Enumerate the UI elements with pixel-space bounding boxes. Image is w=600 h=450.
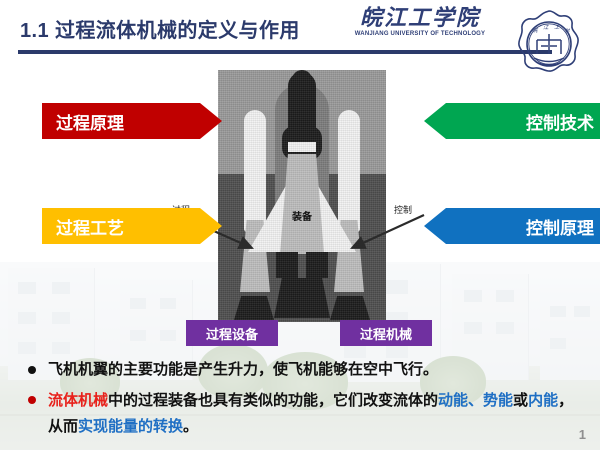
launch-pad-block-left [276,252,298,278]
tag-label: 过程机械 [360,324,412,343]
pointer-label-right: 控制 [394,203,412,216]
svg-text:江: 江 [543,24,549,31]
callout-label: 控制原理 [526,214,594,239]
tag-label: 过程设备 [206,324,258,343]
bullet-text-highlight-blue: 实现能量的转换 [78,418,183,435]
bullet-dot-icon [28,396,36,404]
launch-pad-base-center [274,278,330,318]
callout-control-tech[interactable]: 控制技术 [424,103,600,139]
page-title: 1.1 过程流体机械的定义与作用 [20,14,300,43]
bullet-text: 或 [513,392,528,409]
bullet-list: 飞机机翼的主要功能是产生升力，使飞机能够在空中飞行。 流体机械中的过程装备也具有… [22,358,578,446]
svg-text:皖: 皖 [532,27,539,34]
shuttle-nose [292,70,312,92]
bullet-text-highlight-blue: 内能 [528,392,558,409]
bullet-dot-icon [28,366,36,374]
university-name-en: WANJIANG UNIVERSITY OF TECHNOLOGY [345,31,495,37]
callout-label: 过程工艺 [56,214,124,239]
header-divider [18,50,552,54]
bullet-item: 流体机械中的过程装备也具有类似的功能，它们改变流体的动能、势能或内能，从而实现能… [22,388,578,440]
space-shuttle-photo: 装备 [218,70,386,322]
svg-text:工: 工 [554,25,560,31]
shuttle-engine-bells [288,142,316,152]
tag-process-equipment[interactable]: 过程设备 [186,320,278,346]
bullet-text: 。 [183,418,198,435]
svg-text:学: 学 [564,28,571,35]
callout-control-principle[interactable]: 控制原理 [424,208,600,244]
bullet-text: 飞机机翼的主要功能是产生升力，使飞机能够在空中飞行。 [48,361,438,378]
launch-pad-block-right [306,252,328,278]
tag-process-machinery[interactable]: 过程机械 [340,320,432,346]
equipment-label: 装备 [218,208,386,223]
callout-process-principle[interactable]: 过程原理 [42,103,222,139]
callout-process-tech[interactable]: 过程工艺 [42,208,222,244]
slide-canvas: 1.1 过程流体机械的定义与作用 皖江工学院 WANJIANG UNIVERSI… [0,0,600,450]
bullet-item: 飞机机翼的主要功能是产生升力，使飞机能够在空中飞行。 [22,358,578,382]
university-wordmark: 皖江工学院 WANJIANG UNIVERSITY OF TECHNOLOGY [345,6,495,37]
bullet-text-highlight-red: 流体机械 [48,392,108,409]
callout-label: 控制技术 [526,109,594,134]
page-number: 1 [579,427,586,442]
callout-label: 过程原理 [56,109,124,134]
bullet-text-highlight-blue: 动能、势能 [438,392,513,409]
university-name-cn: 皖江工学院 [345,6,495,29]
bullet-text: 中的过程装备也具有类似的功能，它们改变流体的 [108,392,438,409]
university-emblem-icon: 皖 江 工 学 [512,8,586,82]
